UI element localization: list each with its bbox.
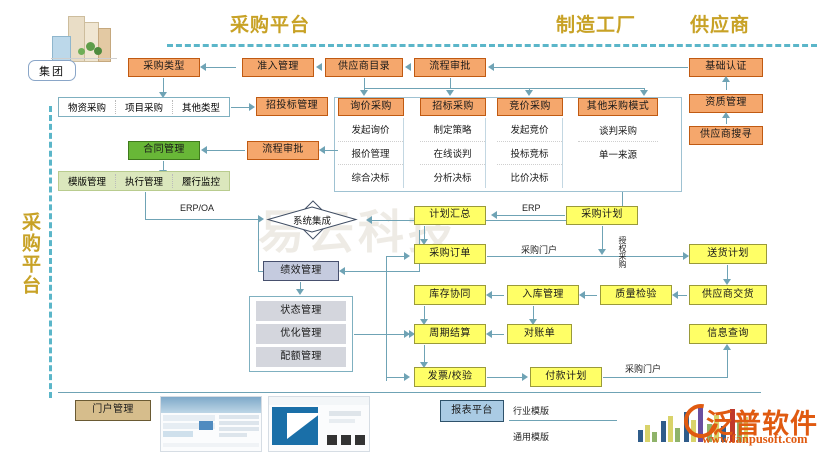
mode-3-item-1[interactable]: 单一来源 xyxy=(578,142,658,165)
label-purchase-portal-2: 采购门户 xyxy=(625,362,661,375)
mode-0-item-0[interactable]: 发起询价 xyxy=(338,118,403,142)
contract-sub-item-1[interactable]: 执行管理 xyxy=(116,174,173,188)
node-quality-inspection-label: 质量检验 xyxy=(615,290,657,301)
node-period-settlement-label: 周期结算 xyxy=(429,329,471,340)
arrowhead-bid-down xyxy=(525,90,533,96)
arrowhead-cert-to-approval xyxy=(488,63,494,71)
arrowhead-bus-to-integration xyxy=(366,216,372,224)
arrowhead-plan-to-summary xyxy=(491,211,497,219)
connector-warehouse-down xyxy=(533,306,534,320)
arrowhead-other-down xyxy=(640,90,648,96)
arrowhead-access-to-type xyxy=(200,63,206,71)
node-supplier-catalog-label: 供应商目录 xyxy=(338,62,390,73)
node-mode-3-title-label: 其他采购模式 xyxy=(587,102,649,113)
arrowhead-right-into-perf xyxy=(339,267,345,275)
performance-item-0[interactable]: 状态管理 xyxy=(256,301,346,321)
arrowhead-inquiry-down xyxy=(360,90,368,96)
header-supplier: 供应商 xyxy=(690,10,750,37)
arrowhead-quality-to-warehouse xyxy=(579,291,585,299)
node-purchase-plan[interactable]: 采购计划 xyxy=(566,206,638,225)
connector-integration-to-perf-h xyxy=(258,271,263,272)
node-statement[interactable]: 对账单 xyxy=(507,324,572,344)
connector-warehouse-to-inventory xyxy=(492,295,504,296)
contract-sub-item-2[interactable]: 履行监控 xyxy=(173,174,229,188)
node-mode-2-title[interactable]: 竞价采购 xyxy=(497,98,563,116)
purchase-type-row: 物资采购 项目采购 其他类型 xyxy=(58,97,230,117)
header-purchasing-platform: 采购平台 xyxy=(230,10,310,37)
label-erp-oa: ERP/OA xyxy=(180,203,214,213)
arrowhead-left-into-settlement xyxy=(404,330,410,338)
mode-1-item-0[interactable]: 制定策略 xyxy=(420,118,485,142)
connector-left-vertical-bus xyxy=(386,256,387,381)
mode-1-item-1[interactable]: 在线谈判 xyxy=(420,142,485,166)
connector-contract-to-integration-v xyxy=(145,192,146,219)
node-information-query-label: 信息查询 xyxy=(707,329,749,340)
node-delivery-plan[interactable]: 送货计划 xyxy=(689,244,767,264)
node-inventory-collaboration[interactable]: 库存协同 xyxy=(414,285,486,305)
label-general-template[interactable]: 通用模版 xyxy=(513,430,549,443)
node-supplier-catalog[interactable]: 供应商目录 xyxy=(325,58,403,77)
performance-items-container: 状态管理 优化管理 配额管理 xyxy=(249,296,353,372)
connector-contract-to-integration-h xyxy=(145,219,258,220)
node-supplier-search[interactable]: 供应商搜寻 xyxy=(689,126,763,145)
arrowhead-search-to-qual xyxy=(722,112,730,118)
mode-0-item-2[interactable]: 综合决标 xyxy=(338,165,403,188)
node-performance-management-label: 绩效管理 xyxy=(280,266,322,277)
connector-catalog-down xyxy=(364,78,365,88)
node-supplier-delivery-label: 供应商交货 xyxy=(702,290,754,301)
contract-sub-row: 模版管理 执行管理 履行监控 xyxy=(58,171,230,191)
connector-cert-to-approval xyxy=(494,67,688,68)
mode-3-item-0[interactable]: 谈判采购 xyxy=(578,118,658,142)
contract-sub-item-0[interactable]: 模版管理 xyxy=(59,174,116,188)
node-invoice-verification[interactable]: 发票/校验 xyxy=(414,367,486,387)
node-mode-0-title[interactable]: 询价采购 xyxy=(338,98,404,116)
connector-invoice-to-payment xyxy=(487,377,522,378)
office-building-icon xyxy=(48,14,120,62)
node-report-platform[interactable]: 报表平台 xyxy=(440,400,504,422)
node-bidding-management[interactable]: 招投标管理 xyxy=(256,97,328,116)
connector-supplierdel-to-quality xyxy=(678,295,687,296)
node-qualification-management[interactable]: 资质管理 xyxy=(689,94,763,113)
node-purchase-type[interactable]: 采购类型 xyxy=(128,58,200,77)
node-access-management[interactable]: 准入管理 xyxy=(242,58,314,77)
node-basic-certification[interactable]: 基础认证 xyxy=(689,58,763,77)
connector-types-to-bidding xyxy=(231,107,249,108)
label-purchase-portal-1: 采购门户 xyxy=(521,243,557,256)
node-performance-management[interactable]: 绩效管理 xyxy=(263,261,339,281)
node-mode-0-title-label: 询价采购 xyxy=(350,102,392,113)
group-label-pill: 集团 xyxy=(28,60,76,81)
connector-inventory-down xyxy=(424,306,425,320)
header-manufacturing-factory: 制造工厂 xyxy=(556,10,636,37)
node-purchase-plan-label: 采购计划 xyxy=(581,210,623,221)
connector-settlement-down xyxy=(424,345,425,363)
node-contract-management[interactable]: 合同管理 xyxy=(128,141,200,160)
node-access-management-label: 准入管理 xyxy=(257,62,299,73)
arrowhead-types-to-bidding xyxy=(249,103,255,111)
mode-2-items: 发起竞价 投标竞标 比价决标 xyxy=(497,118,563,188)
node-supplier-search-label: 供应商搜寻 xyxy=(700,130,752,141)
node-process-approval-top-label: 流程审批 xyxy=(429,62,471,73)
arrowhead-supplierdel-to-quality xyxy=(672,291,678,299)
node-bidding-management-label: 招投标管理 xyxy=(266,101,318,112)
label-erp: ERP xyxy=(522,203,541,213)
connector-quality-to-warehouse xyxy=(585,295,597,296)
type-item-2[interactable]: 其他类型 xyxy=(173,100,229,114)
performance-item-2[interactable]: 配额管理 xyxy=(256,347,346,367)
mode-0-item-1[interactable]: 报价管理 xyxy=(338,142,403,166)
diagram-canvas: 易云科技 采购平台 制造工厂 供应商 采购平台 集团 采购类型 准入管理 供应商… xyxy=(0,0,825,454)
connector-integration-to-perf-v xyxy=(258,219,259,271)
performance-item-1-label: 优化管理 xyxy=(280,329,322,340)
node-warehouse-management[interactable]: 入库管理 xyxy=(507,285,579,305)
arrowhead-warehouse-to-inventory xyxy=(486,291,492,299)
node-quality-inspection[interactable]: 质量检验 xyxy=(600,285,672,305)
node-payment-plan[interactable]: 付款计划 xyxy=(530,367,602,387)
connector-search-to-qual xyxy=(726,117,727,124)
connector-left-bus-invoice xyxy=(386,377,404,378)
top-dashed-divider xyxy=(167,44,817,47)
connector-payment-to-infoquery-v xyxy=(727,348,728,378)
performance-item-1[interactable]: 优化管理 xyxy=(256,324,346,344)
node-system-integration[interactable]: 系统集成 xyxy=(266,206,358,233)
arrowhead-catalog-to-access xyxy=(316,63,322,71)
connector-right-into-perf xyxy=(345,271,420,272)
connector-approval-to-contract xyxy=(207,150,245,151)
node-inventory-collaboration-label: 库存协同 xyxy=(429,290,471,301)
connector-plan-to-summary xyxy=(497,215,565,216)
connector-plan-down-auth xyxy=(602,226,603,250)
node-information-query[interactable]: 信息查询 xyxy=(689,324,767,344)
mode-1-items: 制定策略 在线谈判 分析决标 xyxy=(420,118,486,188)
left-dashed-divider xyxy=(49,106,52,398)
footer-divider xyxy=(58,392,761,393)
node-process-approval-mid[interactable]: 流程审批 xyxy=(247,141,319,160)
arrowhead-statement-to-settlement xyxy=(486,330,492,338)
label-industry-template[interactable]: 行业模版 xyxy=(513,404,549,417)
system-integration-label: 系统集成 xyxy=(266,206,358,233)
connector-mode-bus-left xyxy=(364,88,450,89)
mode-3-items: 谈判采购 单一来源 xyxy=(578,118,658,165)
connector-order-to-delivery xyxy=(487,256,688,257)
connector-left-bus-settlement xyxy=(386,334,404,335)
node-portal-management[interactable]: 门户管理 xyxy=(75,400,151,421)
type-item-1[interactable]: 项目采购 xyxy=(116,100,173,114)
header-vertical-purchasing-platform: 采购平台 xyxy=(16,212,43,296)
node-statement-label: 对账单 xyxy=(524,329,555,340)
node-purchase-order-label: 采购订单 xyxy=(429,249,471,260)
connector-summary-down xyxy=(424,226,425,240)
performance-item-0-label: 状态管理 xyxy=(280,306,322,317)
node-delivery-plan-label: 送货计划 xyxy=(707,249,749,260)
node-mode-3-title[interactable]: 其他采购模式 xyxy=(578,98,658,116)
node-plan-summary[interactable]: 计划汇总 xyxy=(414,206,486,225)
arrowhead-invoice-to-payment xyxy=(522,373,528,381)
template-divider xyxy=(509,420,617,421)
node-purchase-type-label: 采购类型 xyxy=(143,62,185,73)
connector-delivery-down xyxy=(727,265,728,280)
fanpu-logo-url: www.fanpusoft.com xyxy=(702,432,808,447)
label-authorized-purchase: 授权采购 xyxy=(618,236,626,268)
mode-0-items: 发起询价 报价管理 综合决标 xyxy=(338,118,404,188)
connector-statement-to-settlement xyxy=(492,334,504,335)
arrowhead-approval-to-contract xyxy=(201,146,207,154)
node-report-platform-label: 报表平台 xyxy=(451,406,493,417)
node-portal-management-label: 门户管理 xyxy=(92,405,134,416)
node-warehouse-management-label: 入库管理 xyxy=(522,290,564,301)
node-payment-plan-label: 付款计划 xyxy=(545,372,587,383)
type-item-0[interactable]: 物资采购 xyxy=(59,100,116,114)
mode-2-item-2[interactable]: 比价决标 xyxy=(497,165,562,188)
connector-approval-down xyxy=(450,78,451,88)
node-basic-certification-label: 基础认证 xyxy=(705,62,747,73)
node-mode-2-title-label: 竞价采购 xyxy=(509,102,551,113)
arrowhead-plan-down-auth xyxy=(598,249,606,255)
mode-2-item-1[interactable]: 投标竞标 xyxy=(497,142,562,166)
node-mode-1-title-label: 招标采购 xyxy=(432,102,474,113)
node-process-approval-top[interactable]: 流程审批 xyxy=(414,58,486,77)
node-process-approval-mid-label: 流程审批 xyxy=(262,145,304,156)
node-invoice-verification-label: 发票/校验 xyxy=(428,372,473,383)
node-plan-summary-label: 计划汇总 xyxy=(429,210,471,221)
node-mode-1-title[interactable]: 招标采购 xyxy=(420,98,486,116)
node-purchase-order[interactable]: 采购订单 xyxy=(414,244,486,264)
connector-left-bus-order xyxy=(386,256,404,257)
node-period-settlement[interactable]: 周期结算 xyxy=(414,324,486,344)
arrowhead-left-into-invoice xyxy=(404,373,410,381)
node-qualification-management-label: 资质管理 xyxy=(705,98,747,109)
connector-access-to-type xyxy=(206,67,236,68)
arrowhead-qual-to-cert xyxy=(722,76,730,82)
node-contract-management-label: 合同管理 xyxy=(143,145,185,156)
mode-1-item-2[interactable]: 分析决标 xyxy=(420,165,485,188)
connector-mode-bus-right xyxy=(450,88,644,89)
arrowhead-tender-down xyxy=(446,90,454,96)
portal-website-thumbnail-1[interactable] xyxy=(160,396,262,452)
arrowhead-approval-to-catalog xyxy=(405,63,411,71)
mode-2-item-0[interactable]: 发起竞价 xyxy=(497,118,562,142)
connector-payment-to-infoquery-h xyxy=(603,377,727,378)
performance-item-2-label: 配额管理 xyxy=(280,352,322,363)
portal-website-thumbnail-2[interactable] xyxy=(268,396,370,452)
arrowhead-to-infoquery xyxy=(723,344,731,350)
arrowhead-inquiry-to-approval xyxy=(319,146,325,154)
node-supplier-delivery[interactable]: 供应商交货 xyxy=(689,285,767,305)
arrowhead-perf-down xyxy=(296,289,304,295)
group-label: 集团 xyxy=(39,63,65,79)
arrowhead-left-into-order xyxy=(404,252,410,260)
